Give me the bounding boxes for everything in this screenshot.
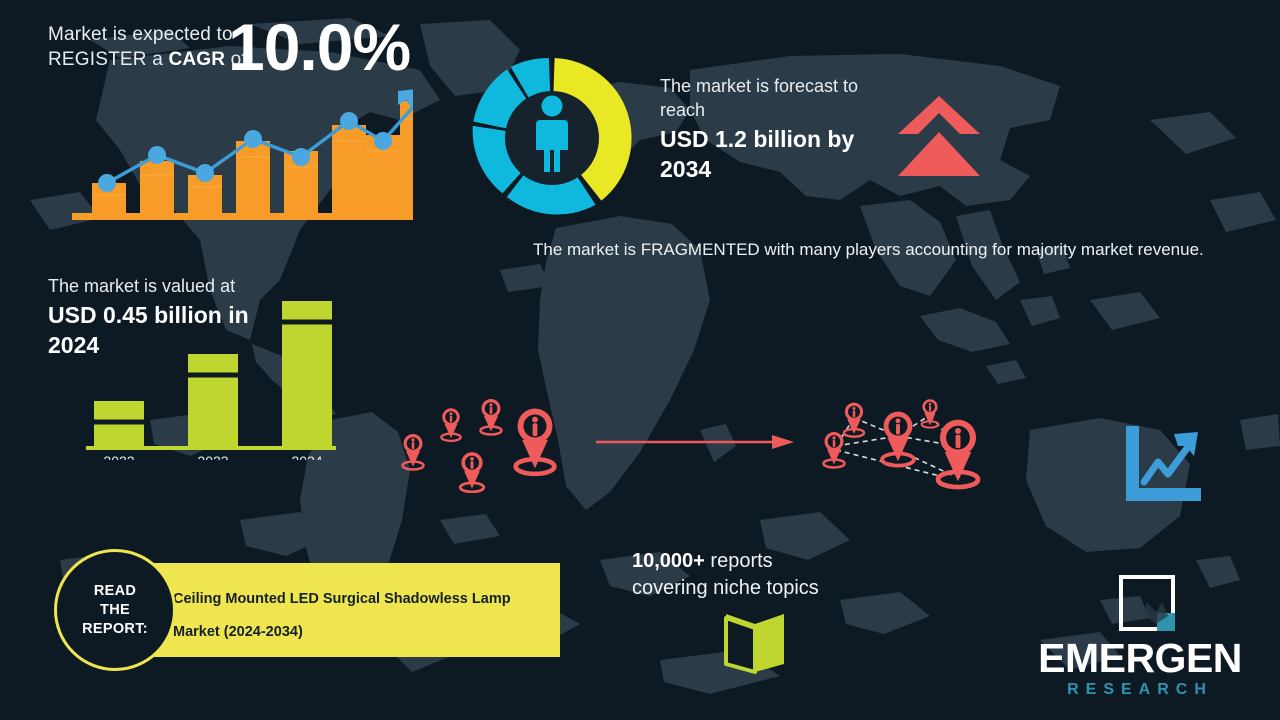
right-arrow-icon	[596, 432, 796, 452]
market-share-donut	[467, 52, 637, 224]
cagr-value: 10.0%	[228, 14, 410, 80]
infographic-canvas: Market is expected to REGISTER a CAGR of…	[0, 0, 1280, 720]
map-pin-person-icon	[922, 399, 939, 427]
cagr-line2-pre: REGISTER a	[48, 49, 168, 70]
read-report-banner[interactable]: Ceiling Mounted LED Surgical Shadowless …	[145, 563, 560, 657]
growth-chart-icon	[1122, 424, 1204, 506]
value-chart-label-2: 2024	[291, 453, 322, 460]
cagr-line2-bold: CAGR	[168, 49, 225, 70]
report-title-line2: Market (2024-2034)	[173, 624, 303, 640]
reports-line1-rest: reports	[705, 550, 773, 572]
badge-line1: READ	[94, 583, 136, 599]
value-chart-baseline	[86, 446, 336, 450]
map-pin-person-icon	[824, 432, 845, 468]
read-report-badge[interactable]: READ THE REPORT:	[54, 549, 176, 671]
fragmented-players-left	[385, 388, 575, 493]
report-title: Ceiling Mounted LED Surgical Shadowless …	[173, 583, 543, 649]
forecast-block: The market is forecast to reach USD 1.2 …	[660, 74, 900, 184]
double-chevron-up-icon	[898, 96, 980, 176]
reports-count: 10,000+	[632, 550, 705, 572]
growth-trend-chart	[68, 85, 413, 223]
map-pin-person-icon	[938, 420, 978, 487]
value-chart-labels: 2022 2023 2024	[103, 453, 322, 460]
map-pin-person-icon	[403, 434, 424, 470]
logo-wordmark: EMERGEN	[1020, 638, 1260, 679]
badge-line2: THE	[100, 602, 130, 618]
market-value-bar-chart: 2022 2023 2024	[76, 290, 344, 460]
read-report-badge-label: READ THE REPORT:	[82, 582, 148, 639]
emergen-research-logo: EMERGEN RESEARCH	[1020, 572, 1260, 697]
map-pin-person-icon	[516, 409, 555, 474]
forecast-small: The market is forecast to reach	[660, 74, 900, 122]
chart-baseline	[72, 213, 413, 220]
map-pin-person-icon	[441, 408, 460, 441]
logo-subtitle: RESEARCH	[1020, 682, 1260, 698]
value-chart-label-1: 2023	[197, 453, 228, 460]
badge-line3: REPORT:	[82, 621, 148, 637]
map-pin-person-icon	[460, 452, 484, 492]
report-title-line1: Ceiling Mounted LED Surgical Shadowless …	[173, 591, 511, 607]
map-pin-person-icon	[481, 399, 502, 435]
fragmentation-text: The market is FRAGMENTED with many playe…	[533, 237, 1223, 262]
open-book-icon	[722, 612, 788, 674]
logo-square-mark	[1116, 572, 1178, 634]
value-chart-label-0: 2022	[103, 453, 134, 460]
cagr-line1: Market is expected to	[48, 24, 233, 45]
reports-count-text: 10,000+ reports covering niche topics	[632, 548, 892, 602]
forecast-big: USD 1.2 billion by 2034	[660, 124, 900, 184]
connected-players-right	[808, 388, 1008, 498]
reports-line2: covering niche topics	[632, 577, 819, 599]
map-pin-person-icon	[844, 403, 864, 437]
